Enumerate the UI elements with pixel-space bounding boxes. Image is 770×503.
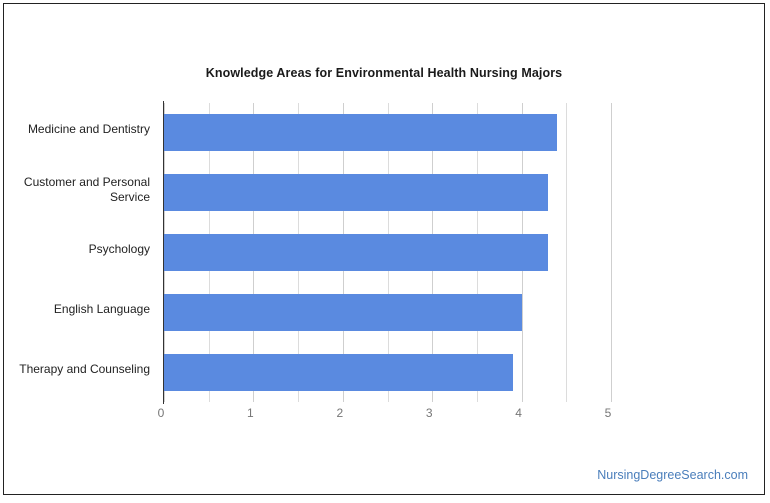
x-tick-label: 5 (588, 406, 628, 420)
category-label: English Language (0, 302, 150, 317)
gridline (566, 103, 567, 402)
bar-row[interactable] (164, 294, 522, 331)
x-tick-label: 1 (230, 406, 270, 420)
category-label: Psychology (0, 242, 150, 257)
watermark-link[interactable]: NursingDegreeSearch.com (597, 468, 748, 482)
page-title: Knowledge Areas for Environmental Health… (4, 66, 764, 80)
category-label: Therapy and Counseling (0, 362, 150, 377)
x-tick-label: 4 (499, 406, 539, 420)
category-label: Medicine and Dentistry (0, 122, 150, 137)
bar[interactable] (164, 294, 522, 331)
bar[interactable] (164, 234, 548, 271)
plot-area (164, 103, 611, 402)
bar-row[interactable] (164, 234, 548, 271)
category-label: Customer and Personal Service (0, 175, 150, 205)
x-tick-label: 3 (409, 406, 449, 420)
bar-row[interactable] (164, 354, 513, 391)
y-axis-line (163, 101, 164, 404)
bar[interactable] (164, 354, 513, 391)
bar[interactable] (164, 174, 548, 211)
x-tick-label: 0 (141, 406, 181, 420)
gridline (611, 103, 612, 402)
bar-row[interactable] (164, 174, 548, 211)
bar-row[interactable] (164, 114, 557, 151)
chart-card: Knowledge Areas for Environmental Health… (3, 3, 765, 495)
bar[interactable] (164, 114, 557, 151)
x-tick-label: 2 (320, 406, 360, 420)
